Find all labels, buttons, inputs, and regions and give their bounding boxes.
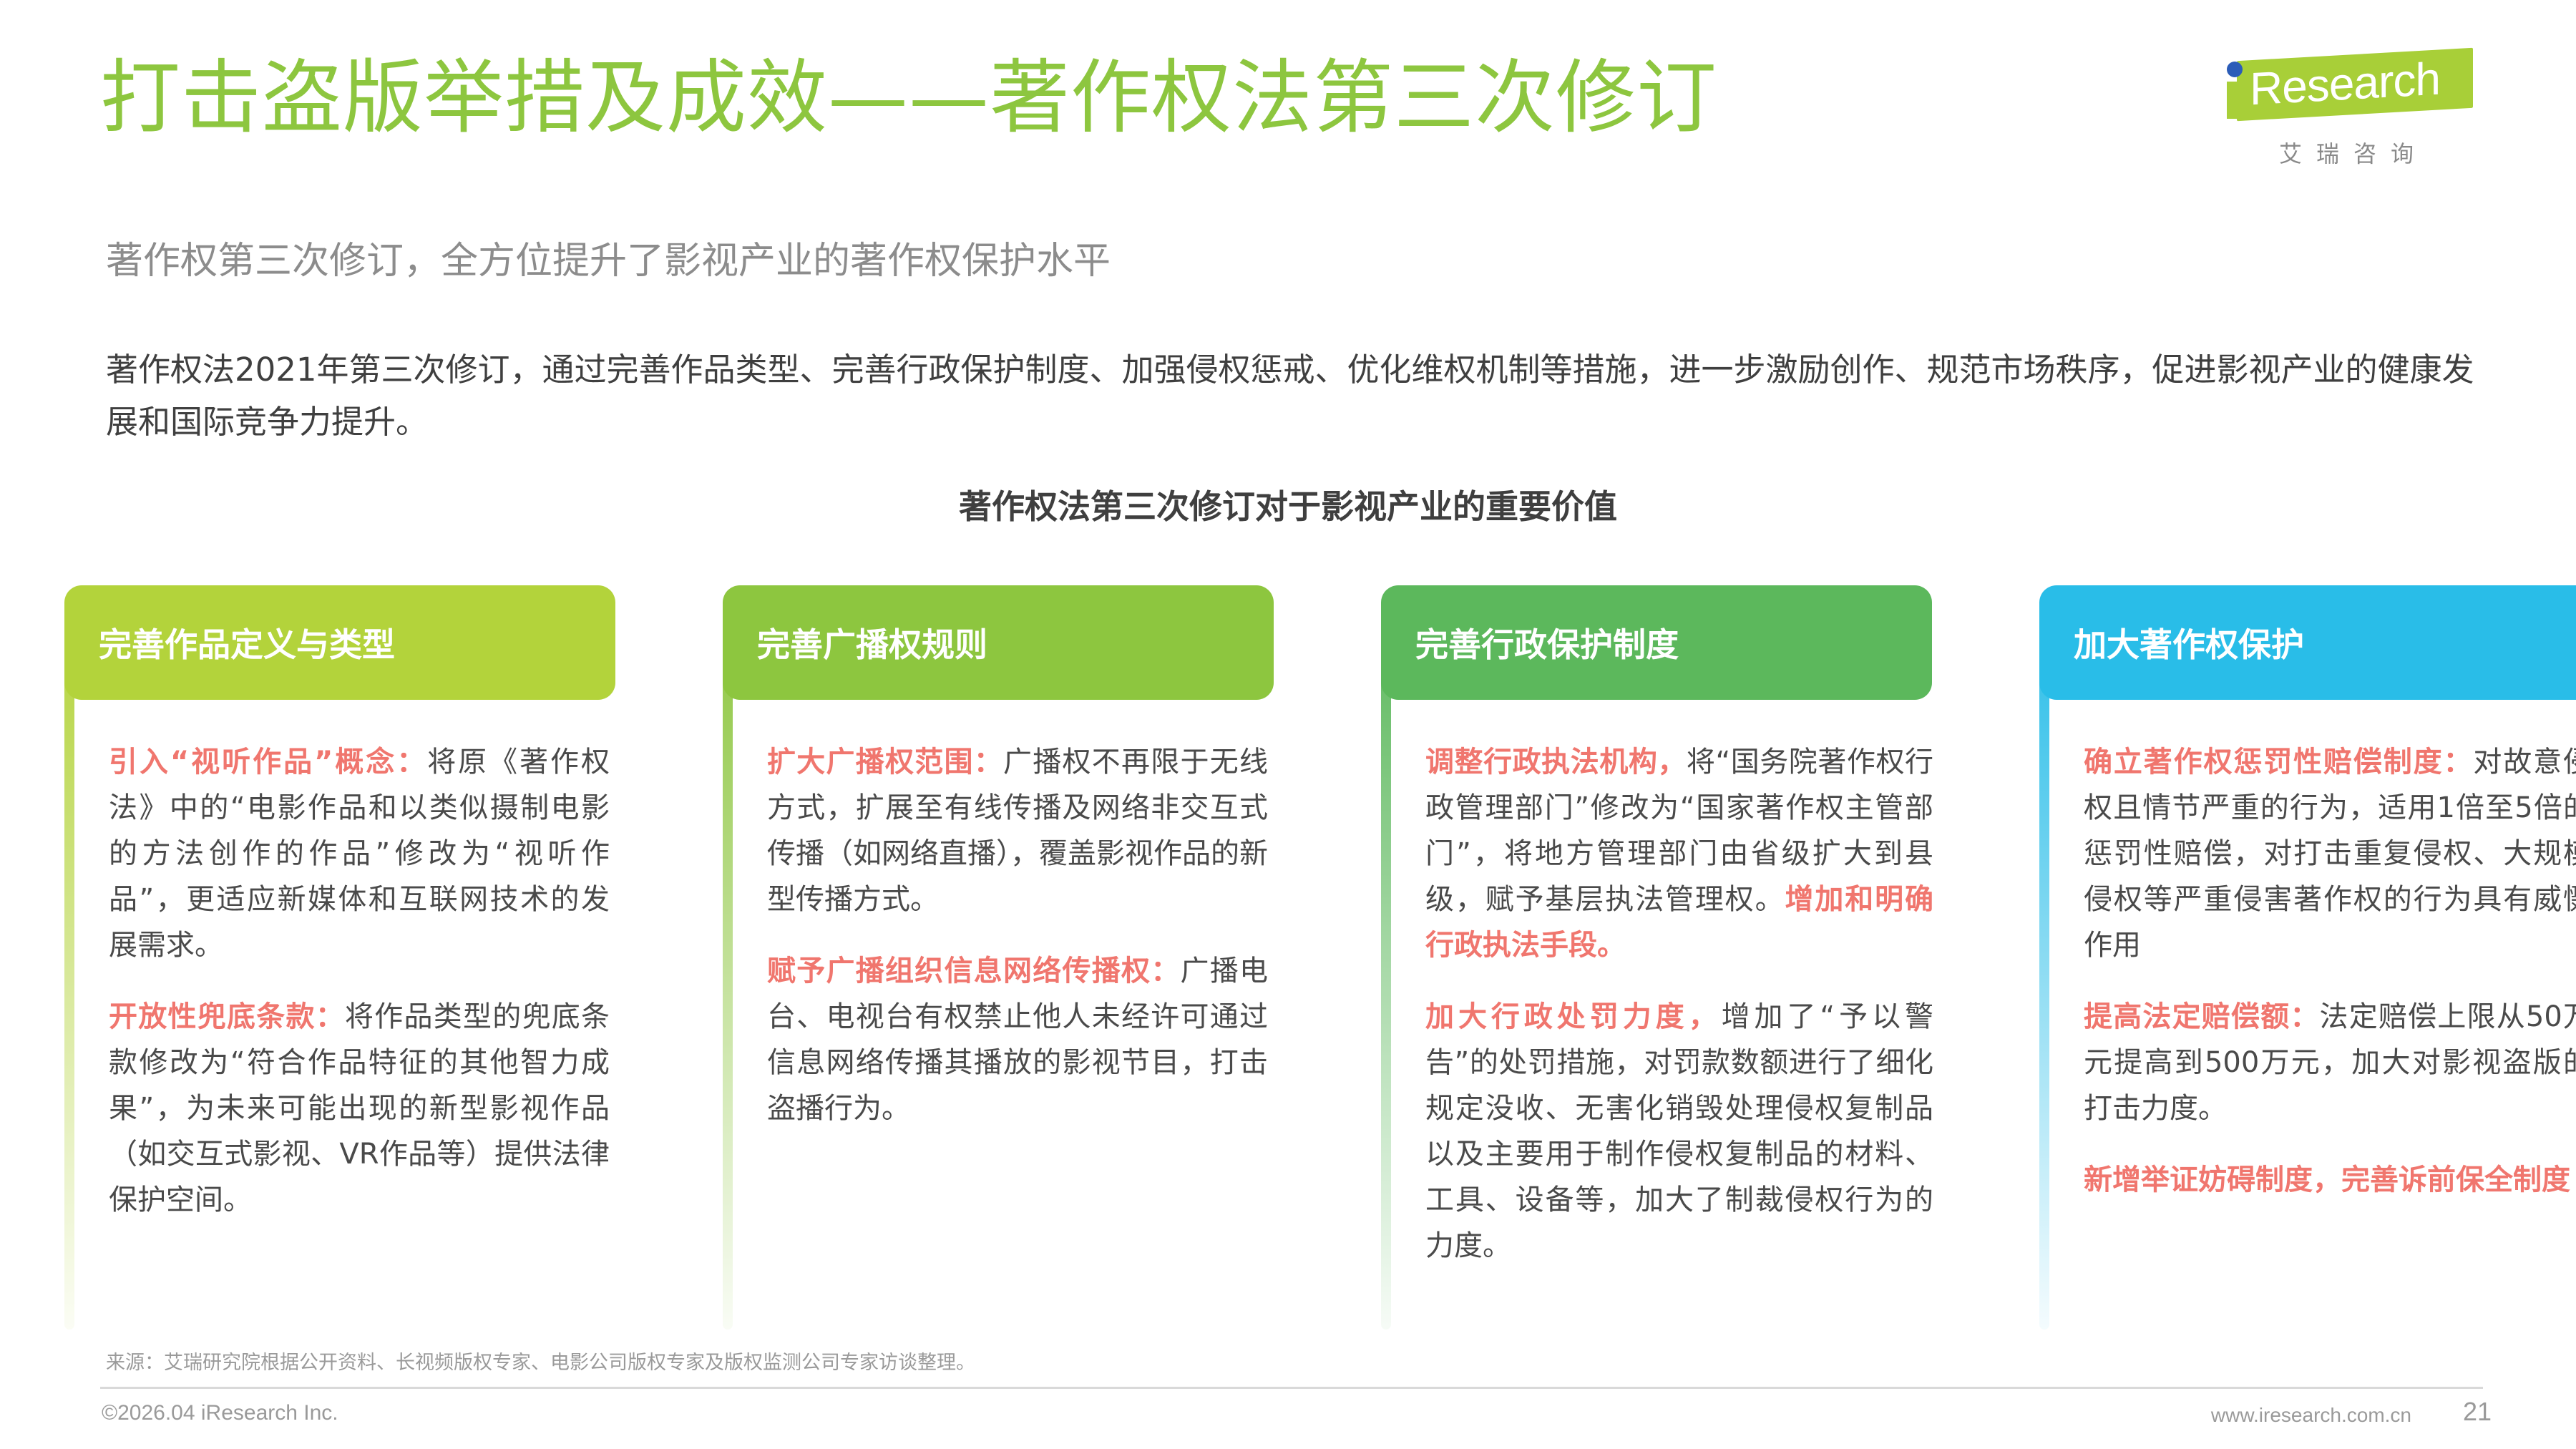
- card-header: 完善作品定义与类型: [64, 585, 615, 700]
- card-accent-bar: [2039, 614, 2049, 1330]
- section-heading: 著作权法第三次修订对于影视产业的重要价值: [0, 481, 2576, 528]
- card-paragraph: 赋予广播组织信息网络传播权：广播电台、电视台有权禁止他人未经许可通过信息网络传播…: [767, 948, 1268, 1131]
- card-accent-bar: [1381, 614, 1391, 1330]
- iresearch-logo: Research 艾瑞咨询: [2202, 50, 2489, 169]
- card-broadcast-rules: 完善广播权规则 扩大广播权范围：广播权不再限于无线方式，扩展至有线传播及网络非交…: [723, 585, 1317, 1337]
- logo-chinese-name: 艾瑞咨询: [2202, 136, 2489, 169]
- card-title: 完善行政保护制度: [1381, 619, 1679, 666]
- paragraph-lead: 加大行政处罚力度，: [1425, 1000, 1722, 1033]
- card-works-definition: 完善作品定义与类型 引入“视听作品”概念：将原《著作权法》中的“电影作品和以类似…: [64, 585, 658, 1337]
- card-header: 完善广播权规则: [723, 585, 1274, 700]
- card-body: 引入“视听作品”概念：将原《著作权法》中的“电影作品和以类似摄制电影的方法创作的…: [109, 739, 610, 1249]
- card-paragraph: 确立著作权惩罚性赔偿制度：对故意侵权且情节严重的行为，适用1倍至5倍的惩罚性赔偿…: [2084, 739, 2576, 968]
- card-paragraph: 扩大广播权范围：广播权不再限于无线方式，扩展至有线传播及网络非交互式传播（如网络…: [767, 739, 1268, 922]
- source-note: 来源：艾瑞研究院根据公开资料、长视频版权专家、电影公司版权专家及版权监测公司专家…: [106, 1347, 975, 1375]
- logo-i-dot-icon: [2227, 62, 2243, 77]
- paragraph-lead: 确立著作权惩罚性赔偿制度：: [2084, 746, 2473, 779]
- card-paragraph: 加大行政处罚力度，增加了“予以警告”的处罚措施，对罚款数额进行了细化规定没收、无…: [1425, 994, 1933, 1269]
- card-header: 完善行政保护制度: [1381, 585, 1932, 700]
- value-cards-container: 完善作品定义与类型 引入“视听作品”概念：将原《著作权法》中的“电影作品和以类似…: [64, 585, 2519, 1337]
- page-title: 打击盗版举措及成效——著作权法第三次修订: [100, 56, 1717, 140]
- paragraph-lead: 调整行政执法机构，: [1425, 746, 1687, 779]
- paragraph-lead: 赋予广播组织信息网络传播权：: [767, 955, 1181, 987]
- website-url: www.iresearch.com.cn: [2211, 1404, 2411, 1427]
- paragraph-lead: 扩大广播权范围：: [767, 746, 1003, 779]
- paragraph-text: 增加了“予以警告”的处罚措施，对罚款数额进行了细化规定没收、无害化销毁处理侵权复…: [1425, 1000, 1933, 1262]
- card-header: 加大著作权保护: [2039, 585, 2576, 700]
- logo-wordmark: Research: [2250, 51, 2440, 117]
- paragraph-lead: 新增举证妨碍制度，完善诉前保全制度: [2084, 1163, 2570, 1196]
- logo-mark: Research: [2202, 50, 2489, 127]
- card-accent-bar: [64, 614, 74, 1330]
- paragraph-lead: 引入“视听作品”概念：: [109, 746, 427, 779]
- paragraph-lead: 提高法定赔偿额：: [2084, 1000, 2320, 1033]
- card-paragraph: 调整行政执法机构，将“国务院著作权行政管理部门”修改为“国家著作权主管部门”，将…: [1425, 739, 1933, 968]
- logo-i-stem-icon: [2227, 82, 2243, 119]
- card-accent-bar: [723, 614, 733, 1330]
- card-paragraph: 开放性兜底条款：将作品类型的兜底条款修改为“符合作品特征的其他智力成果”，为未来…: [109, 994, 610, 1223]
- page-number: 21: [2463, 1397, 2492, 1427]
- card-copyright-protection: 加大著作权保护 确立著作权惩罚性赔偿制度：对故意侵权且情节严重的行为，适用1倍至…: [2039, 585, 2576, 1337]
- card-admin-protection: 完善行政保护制度 调整行政执法机构，将“国务院著作权行政管理部门”修改为“国家著…: [1381, 585, 1975, 1337]
- card-title: 完善作品定义与类型: [64, 619, 395, 666]
- card-paragraph: 引入“视听作品”概念：将原《著作权法》中的“电影作品和以类似摄制电影的方法创作的…: [109, 739, 610, 968]
- page-subtitle: 著作权第三次修订，全方位提升了影视产业的著作权保护水平: [106, 230, 1111, 284]
- card-body: 扩大广播权范围：广播权不再限于无线方式，扩展至有线传播及网络非交互式传播（如网络…: [767, 739, 1268, 1157]
- card-title: 完善广播权规则: [723, 619, 987, 666]
- card-body: 确立著作权惩罚性赔偿制度：对故意侵权且情节严重的行为，适用1倍至5倍的惩罚性赔偿…: [2084, 739, 2576, 1229]
- card-body: 调整行政执法机构，将“国务院著作权行政管理部门”修改为“国家著作权主管部门”，将…: [1425, 739, 1933, 1294]
- intro-paragraph: 著作权法2021年第三次修订，通过完善作品类型、完善行政保护制度、加强侵权惩戒、…: [106, 343, 2482, 448]
- footer-divider: [100, 1387, 2483, 1389]
- card-paragraph: 提高法定赔偿额：法定赔偿上限从50万元提高到500万元，加大对影视盗版的打击力度…: [2084, 994, 2576, 1131]
- copyright-text: ©2026.04 iResearch Inc.: [102, 1401, 338, 1425]
- card-paragraph: 新增举证妨碍制度，完善诉前保全制度: [2084, 1157, 2576, 1203]
- paragraph-lead: 开放性兜底条款：: [109, 1000, 345, 1033]
- card-title: 加大著作权保护: [2039, 619, 2304, 666]
